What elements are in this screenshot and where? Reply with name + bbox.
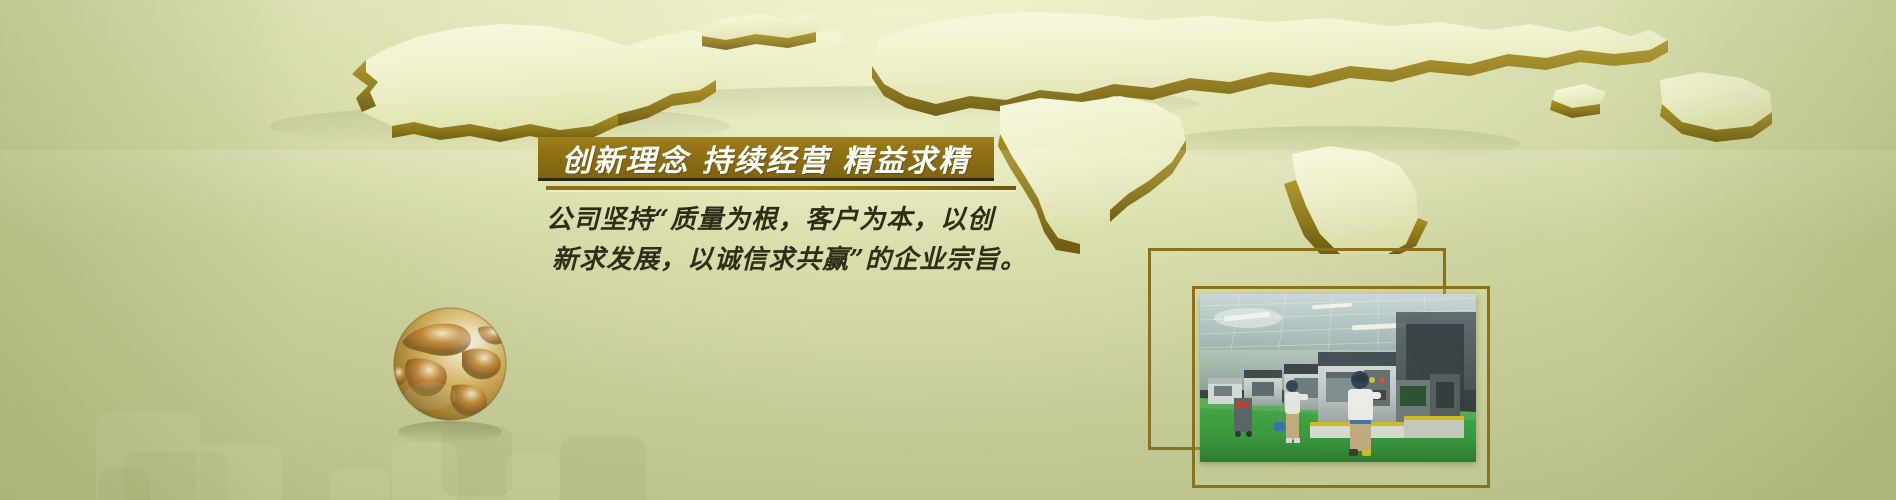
factory-workshop-photo: [1200, 294, 1476, 462]
body-line-2: 新求发展，以诚信求共赢”的企业宗旨。: [546, 240, 1066, 280]
watermark-square: [330, 468, 390, 500]
landmass-australia: [1550, 72, 1772, 142]
watermark-square: [196, 444, 282, 500]
headline-underline-rule: [546, 186, 1016, 190]
landmass-south-america: [1284, 146, 1428, 254]
body-copy: 公司坚持“质量为根，客户为本，以创 新求发展，以诚信求共赢”的企业宗旨。: [546, 200, 1066, 280]
watermark-square: [506, 452, 560, 500]
headline-text: 创新理念 持续经营 精益求精: [538, 137, 994, 178]
promotional-banner: 创新理念 持续经营 精益求精 公司坚持“质量为根，客户为本，以创 新求发展，以诚…: [0, 0, 1896, 500]
body-line-1: 公司坚持“质量为根，客户为本，以创: [546, 200, 1066, 240]
photo-frame: [1148, 248, 1488, 484]
landmass-eurasia: [872, 12, 1668, 116]
watermark-square: [98, 468, 150, 500]
headline-band: 创新理念 持续经营 精益求精: [538, 137, 994, 178]
watermark-square: [560, 436, 646, 500]
globe-3d: [378, 298, 528, 448]
